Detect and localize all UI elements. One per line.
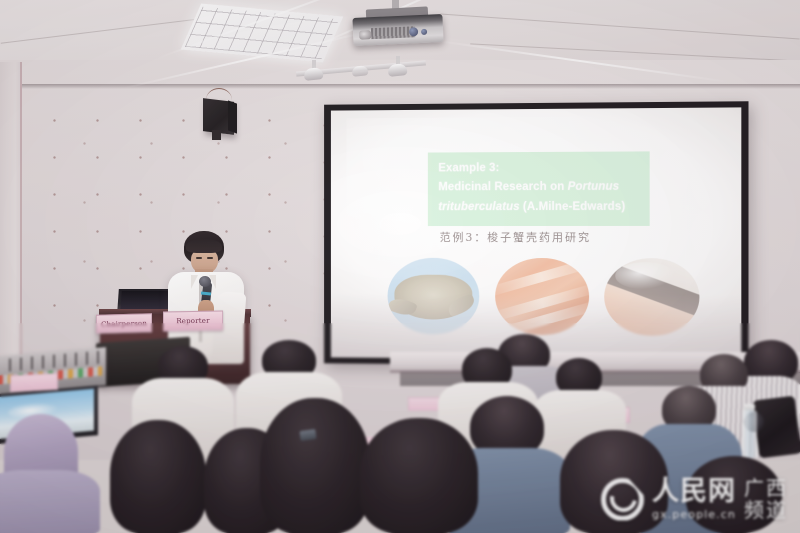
slide-subtitle-chinese: 范例3：梭子蟹壳药用研究 xyxy=(440,229,679,245)
presenter-eye xyxy=(207,257,213,259)
watermark: 人民网 gx.people.cn 广西 频道 xyxy=(601,477,788,521)
presenter-eye xyxy=(196,257,202,259)
nameplate-reporter-label: Reporter xyxy=(176,317,209,326)
slide-title-block: Example 3: Medicinal Research on Portunu… xyxy=(427,151,649,226)
wall-speaker-bracket xyxy=(212,130,221,140)
presenter-hair-front xyxy=(186,239,222,253)
audience-head xyxy=(260,398,370,533)
projector-knob xyxy=(421,29,427,35)
conference-photo: Example 3: Medicinal Research on Portunu… xyxy=(0,0,800,533)
slide-title-line-3: trituberculatus (A.Milne-Edwards) xyxy=(438,198,640,218)
slide-title-line-2-plain: Medicinal Research on xyxy=(438,181,567,193)
projection-screen: Example 3: Medicinal Research on Portunu… xyxy=(331,107,741,360)
watermark-channel-line2: 频道 xyxy=(744,499,788,521)
slide-title-line-2: Medicinal Research on Portunus xyxy=(438,178,640,198)
shell-highlight xyxy=(616,263,675,290)
peoples-daily-logo-icon xyxy=(601,478,644,521)
watermark-url: gx.people.cn xyxy=(652,508,736,521)
slide-title-line-2-italic: Portunus xyxy=(568,181,620,193)
watermark-brand-block: 人民网 gx.people.cn xyxy=(652,478,736,521)
track-spotlight xyxy=(352,65,369,77)
presenter-collar xyxy=(191,275,198,289)
nameplate-reporter: Reporter xyxy=(163,310,223,331)
track-spotlight xyxy=(303,67,323,81)
track-spotlight xyxy=(387,63,407,77)
audience-head xyxy=(360,418,478,533)
nameplate-chairperson-label: Chairperson xyxy=(101,319,147,328)
projector-lens xyxy=(359,30,371,40)
watermark-channel-line1: 广西 xyxy=(744,477,788,499)
wall-ceiling-shadow xyxy=(0,84,800,89)
audience-body xyxy=(0,470,100,533)
slide-title-line-3-plain: (A.Milne-Edwards) xyxy=(520,201,626,213)
projector xyxy=(352,14,443,46)
projection-screen-frame: Example 3: Medicinal Research on Portunu… xyxy=(324,101,748,366)
watermark-brand-cn: 人民网 xyxy=(652,478,736,505)
audience-head xyxy=(110,420,206,533)
desk-namecard xyxy=(10,373,58,393)
projector-knob xyxy=(409,27,418,36)
slide-title-line-3-italic: trituberculatus xyxy=(438,201,519,213)
light-grid xyxy=(185,7,339,59)
wall-speaker-side xyxy=(228,100,237,133)
watermark-channel: 广西 频道 xyxy=(744,477,788,521)
nameplate-chairperson: Chairperson xyxy=(96,313,152,333)
water-bottle xyxy=(742,410,757,458)
slide-title-line-1: Example 3: xyxy=(438,158,640,179)
